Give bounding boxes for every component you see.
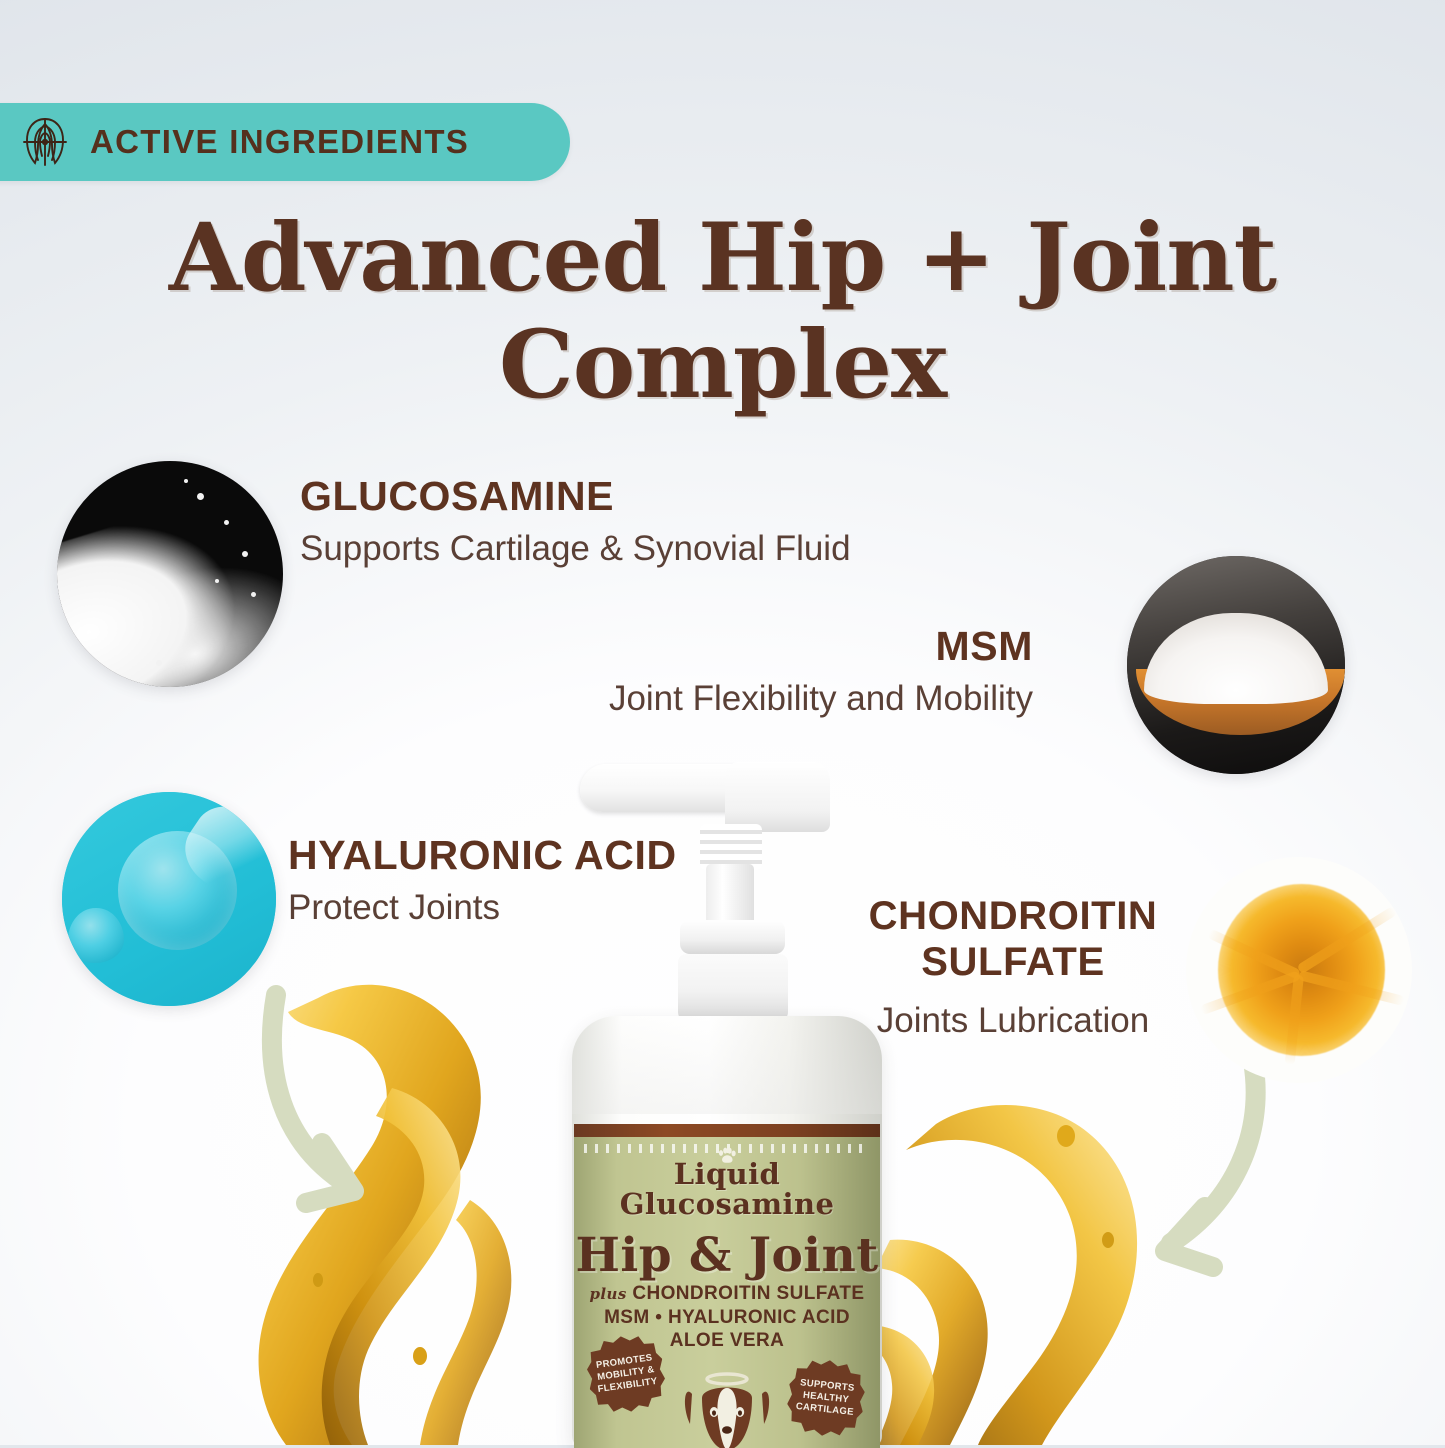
label-sub-prefix: plus (590, 1285, 627, 1303)
hyaluronic-acid-gel-image (62, 792, 276, 1006)
label-sub-line-1: CHONDROITIN SULFATE (632, 1283, 864, 1304)
ingredient-desc-msm: Joint Flexibility and Mobility (609, 676, 1033, 722)
ingredient-desc-glucosamine: Supports Cartilage & Synovial Fluid (300, 526, 851, 572)
pump-stem (706, 864, 754, 926)
headline-line-2: Complex (499, 310, 946, 420)
ingredient-desc-chondroitin-sulfate: Joints Lubrication (838, 998, 1188, 1044)
pump-head (725, 762, 830, 832)
pump-collar (680, 920, 785, 954)
ingredient-msm: MSM Joint Flexibility and Mobility (609, 624, 1033, 722)
powder-speck (215, 579, 219, 583)
powder-heap-shape (57, 481, 283, 687)
active-ingredients-badge-label: ACTIVE INGREDIENTS (90, 123, 469, 161)
ingredient-glucosamine: GLUCOSAMINE Supports Cartilage & Synovia… (300, 474, 851, 572)
headline-line-1: Advanced Hip + Joint (169, 203, 1276, 313)
powder-speck (184, 479, 188, 483)
leaf-fingerprint-icon (22, 117, 68, 167)
ingredient-name-chondroitin-sulfate: CHONDROITIN SULFATE (838, 893, 1188, 986)
label-sub-line-3: ALOE VERA (670, 1330, 784, 1351)
chondroitin-name-line-1: CHONDROITIN (869, 894, 1158, 938)
powder-speck (197, 493, 204, 500)
infographic-canvas: ACTIVE INGREDIENTS Advanced Hip + Joint … (0, 0, 1445, 1445)
curved-arrow-down-right (250, 955, 470, 1220)
page-title: Advanced Hip + Joint Complex (0, 205, 1445, 419)
active-ingredients-badge: ACTIVE INGREDIENTS (0, 103, 570, 181)
label-brand: Liquid Glucosamine (574, 1160, 880, 1219)
seal-supports-cartilage: SUPPORTS HEALTHY CARTILAGE (784, 1356, 868, 1440)
ingredient-chondroitin-sulfate: CHONDROITIN SULFATE Joints Lubrication (838, 893, 1188, 1043)
label-title: Hip & Joint (574, 1228, 880, 1283)
label-brand-line-2: Glucosamine (620, 1187, 835, 1221)
msm-powder-image (1127, 556, 1345, 774)
powder-speck (224, 520, 229, 525)
bottle-shoulder-shading (572, 1016, 882, 1114)
chondroitin-powder-image (1186, 857, 1412, 1083)
ingredient-name-glucosamine: GLUCOSAMINE (300, 474, 851, 518)
bottle-label: Liquid Glucosamine Hip & Joint plus CHON… (574, 1124, 880, 1448)
ingredient-name-msm: MSM (609, 624, 1033, 668)
chondroitin-name-line-2: SULFATE (921, 940, 1104, 984)
curved-arrow-down-left (1055, 1055, 1285, 1295)
glucosamine-powder-image (57, 461, 283, 687)
pump-cap (678, 954, 788, 1022)
dog-with-halo-illustration (662, 1368, 792, 1448)
product-bottle-image: Liquid Glucosamine Hip & Joint plus CHON… (560, 758, 890, 1448)
label-top-band (574, 1124, 880, 1137)
label-sub-line-2: MSM • HYALURONIC ACID (604, 1307, 850, 1328)
